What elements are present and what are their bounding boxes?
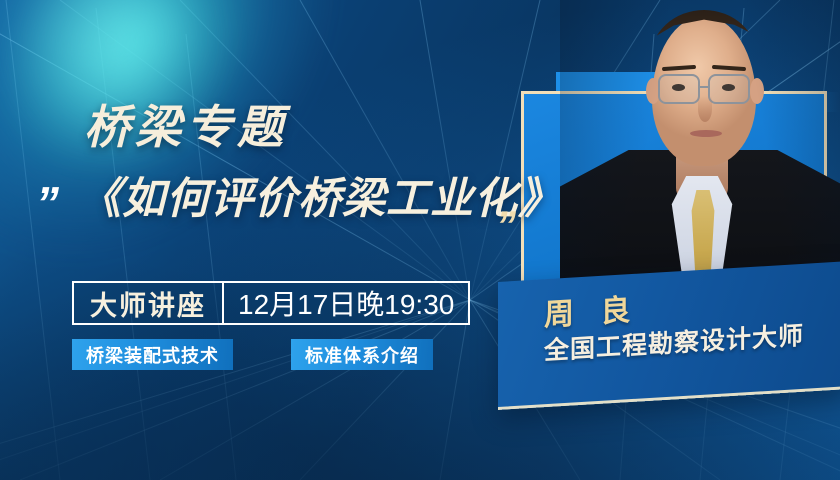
speaker-portrait: [560, 0, 840, 300]
page-title: 桥梁专题: [84, 104, 288, 150]
topic-tag: 标准体系介绍: [291, 339, 433, 370]
subtitle: 《如何评价桥梁工业化》: [78, 174, 562, 226]
quote-close-icon: ”: [496, 206, 514, 246]
topic-tag-list: 桥梁装配式技术 标准体系介绍: [72, 339, 433, 370]
topic-tag: 桥梁装配式技术: [72, 339, 233, 370]
quote-open-icon: ”: [36, 180, 57, 226]
subtitle-group: ” 《如何评价桥梁工业化》 ”: [36, 174, 536, 240]
session-type-label: 大师讲座: [74, 283, 222, 323]
webinar-poster: 周 良 全国工程勘察设计大师 桥梁专题 ” 《如何评价桥梁工业化》 ” 大师讲座…: [0, 0, 840, 480]
session-datetime: 12月17日晚19:30: [224, 283, 468, 323]
speaker-plaque-content: 周 良 全国工程勘察设计大师: [498, 261, 840, 410]
session-meta-box: 大师讲座 12月17日晚19:30: [72, 281, 470, 325]
